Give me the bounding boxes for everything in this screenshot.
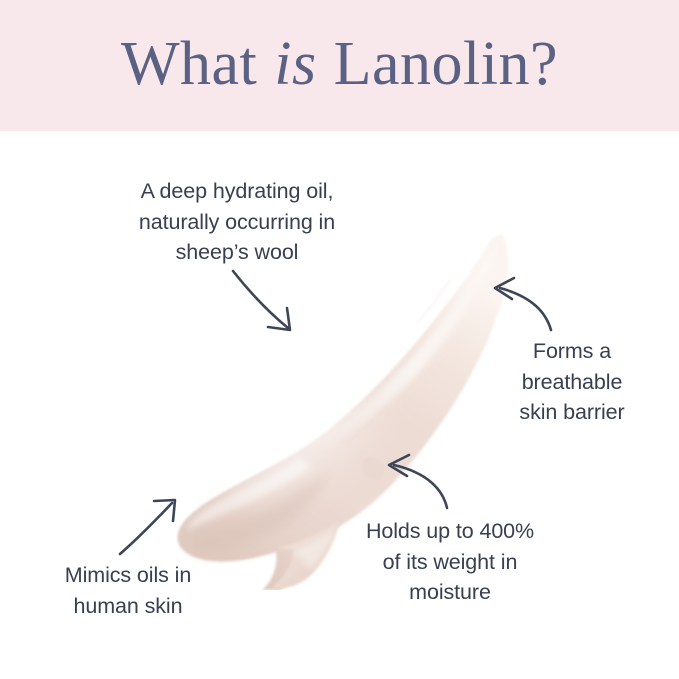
callout-mimics-skin-oils: Mimics oils in human skin bbox=[28, 560, 228, 621]
callout-holds-moisture: Holds up to 400% of its weight in moistu… bbox=[330, 516, 570, 608]
page-title-emphasis: is bbox=[272, 33, 318, 95]
page-title: What is Lanolin? bbox=[0, 0, 679, 131]
page-title-suffix: Lanolin? bbox=[334, 33, 558, 95]
page-title-prefix: What bbox=[121, 33, 257, 95]
lanolin-infographic: What is Lanolin? bbox=[0, 0, 679, 679]
callout-hydrating-oil: A deep hydrating oil, naturally occurrin… bbox=[92, 176, 382, 268]
callout-skin-barrier: Forms a breathable skin barrier bbox=[474, 336, 670, 428]
